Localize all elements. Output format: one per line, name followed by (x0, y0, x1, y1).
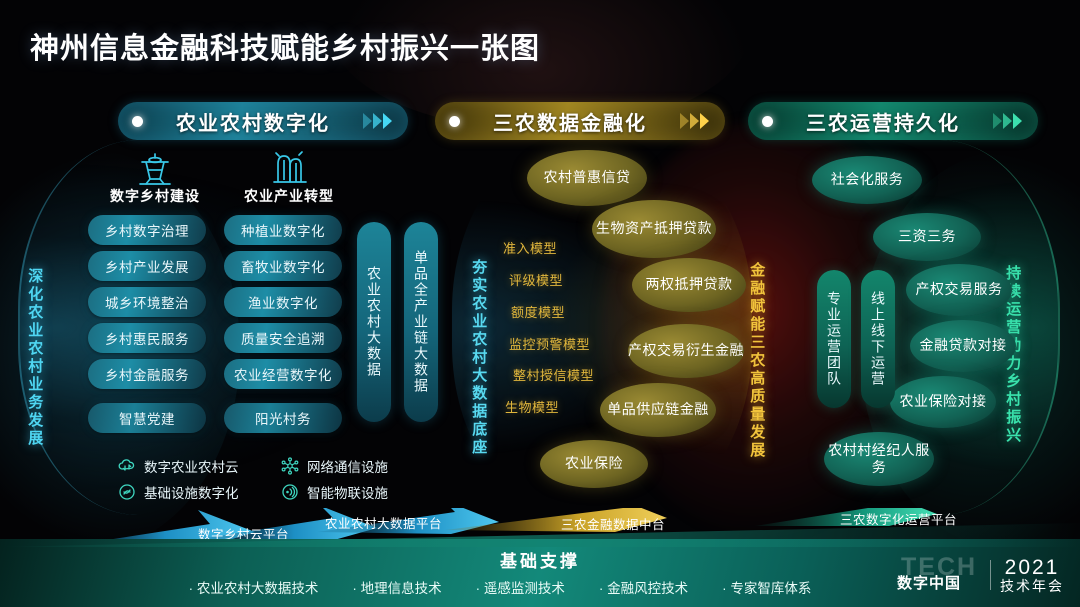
infographic-canvas: 神州信息金融科技赋能乡村振兴一张图 农业农村数字化 三农数据金融化 三农运营持久… (0, 0, 1080, 607)
infra-label: 智能物联设施 (307, 482, 388, 502)
chip-item[interactable]: 乡村数字治理 (88, 215, 206, 245)
logo-cn-label: 数字中国 (897, 572, 961, 593)
side-label-left: 深化农业农村业务发展 (26, 228, 43, 488)
chip-item[interactable]: 农业经营数字化 (224, 359, 342, 389)
conference-logo: TECH 数字中国 2021 技术年会 (897, 555, 1064, 595)
chevron-right-icon (993, 113, 1022, 129)
model-item[interactable]: 评级模型 (509, 270, 563, 289)
infra-item[interactable]: 智能物联设施 (281, 482, 388, 502)
operation-node[interactable]: 农业保险对接 (890, 376, 996, 428)
chip-item[interactable]: 乡村金融服务 (88, 359, 206, 389)
bullet-dot-icon (132, 116, 143, 127)
column-caption-digital-village: 数字乡村建设 (90, 186, 220, 206)
base-item[interactable]: 专家智库体系 (722, 577, 811, 597)
arrow-label: 农业农村大数据平台 (325, 513, 442, 532)
finance-node[interactable]: 农业保险 (540, 440, 648, 488)
recycle-circle-icon (118, 483, 136, 501)
chip-item[interactable]: 质量安全追溯 (224, 323, 342, 353)
model-item[interactable]: 生物模型 (505, 397, 559, 416)
base-item[interactable]: 金融风控技术 (599, 577, 688, 597)
cloud-arrow-icon (118, 457, 136, 475)
section-header-digitalization[interactable]: 农业农村数字化 (118, 102, 408, 140)
base-support-title: 基础支撑 (500, 547, 580, 572)
chip-item[interactable]: 种植业数字化 (224, 215, 342, 245)
network-node-icon (281, 457, 299, 475)
finance-node[interactable]: 农村普惠信贷 (527, 150, 647, 206)
page-title: 神州信息金融科技赋能乡村振兴一张图 (30, 25, 540, 67)
iot-signal-icon (281, 483, 299, 501)
infra-label: 基础设施数字化 (144, 482, 239, 502)
chip-item[interactable]: 城乡环境整治 (88, 287, 206, 317)
logo-year: 2021 (1005, 557, 1060, 579)
greenhouse-icon (266, 146, 312, 186)
infra-item[interactable]: 数字农业农村云 (118, 456, 239, 476)
base-item[interactable]: 地理信息技术 (352, 577, 441, 597)
base-item[interactable]: 遥感监测技术 (476, 577, 565, 597)
infra-item[interactable]: 基础设施数字化 (118, 482, 239, 502)
chip-item-extra[interactable]: 阳光村务 (224, 403, 342, 433)
model-item[interactable]: 额度模型 (511, 302, 565, 321)
bullet-dot-icon (762, 116, 773, 127)
finance-node[interactable]: 单品供应链金融 (600, 383, 716, 437)
logo-divider (990, 560, 991, 590)
section-header-finance[interactable]: 三农数据金融化 (435, 102, 725, 140)
side-label-mid-right: 金融赋能三农高质量发展 (748, 238, 765, 483)
operation-pillar[interactable]: 线上线下运营 (861, 270, 895, 408)
arrow-label: 三农金融数据中台 (561, 514, 665, 533)
section-header-operations[interactable]: 三农运营持久化 (748, 102, 1038, 140)
model-item[interactable]: 整村授信模型 (513, 365, 594, 384)
column-caption-industry-upgrade: 农业产业转型 (224, 186, 354, 206)
model-item[interactable]: 监控预警模型 (509, 334, 590, 353)
finance-node[interactable]: 两权抵押贷款 (632, 258, 746, 312)
base-support-items: 农业农村大数据技术 地理信息技术 遥感监测技术 金融风控技术 专家智库体系 (0, 577, 1000, 597)
data-pillar[interactable]: 单品全产业链大数据 (404, 222, 438, 422)
arrow-label: 三农数字化运营平台 (840, 509, 957, 528)
infra-item[interactable]: 网络通信设施 (281, 456, 388, 476)
chip-item[interactable]: 乡村惠民服务 (88, 323, 206, 353)
finance-node[interactable]: 生物资产抵押贷款 (592, 200, 716, 258)
chip-item[interactable]: 畜牧业数字化 (224, 251, 342, 281)
section-title: 三农运营持久化 (773, 107, 993, 136)
bullet-dot-icon (449, 116, 460, 127)
model-item[interactable]: 准入模型 (503, 238, 557, 257)
operation-pillar[interactable]: 专业运营团队 (817, 270, 851, 408)
logo-meeting: 技术年会 (1000, 579, 1064, 594)
operation-node[interactable]: 三资三务 (873, 213, 981, 261)
data-pillar[interactable]: 农业农村大数据 (357, 222, 391, 422)
chip-item[interactable]: 渔业数字化 (224, 287, 342, 317)
chevron-right-icon (680, 113, 709, 129)
finance-node[interactable]: 产权交易衍生金融 (628, 324, 744, 378)
operation-node[interactable]: 农村村经纪人服务 (824, 432, 934, 486)
chip-item[interactable]: 乡村产业发展 (88, 251, 206, 281)
infra-label: 网络通信设施 (307, 456, 388, 476)
operation-node[interactable]: 产权交易服务 (906, 264, 1012, 316)
chevron-right-icon (363, 113, 392, 129)
operation-node[interactable]: 金融贷款对接 (910, 320, 1016, 372)
infra-label: 数字农业农村云 (144, 456, 239, 476)
base-item[interactable]: 农业农村大数据技术 (189, 577, 319, 597)
chip-item-extra[interactable]: 智慧党建 (88, 403, 206, 433)
side-label-mid-left: 夯实农业农村大数据底座 (470, 238, 487, 478)
section-title: 农业农村数字化 (143, 107, 363, 136)
water-tower-icon (132, 148, 178, 188)
operation-node[interactable]: 社会化服务 (812, 156, 922, 204)
section-title: 三农数据金融化 (460, 107, 680, 136)
